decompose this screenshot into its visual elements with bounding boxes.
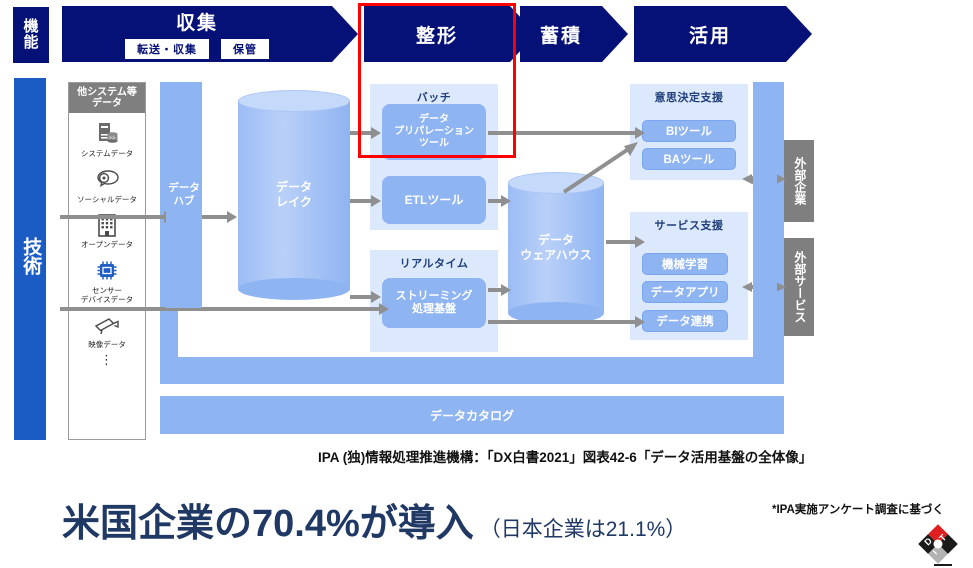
stage-utilize-label: 活用	[689, 21, 731, 48]
data-lake-label: データ レイク	[238, 180, 350, 210]
data-hub-label: データ ハブ	[168, 182, 200, 207]
node-etl-tool[interactable]: ETLツール	[382, 176, 486, 224]
chevron-arrow-icon	[332, 6, 358, 62]
data-sources-header-line1: 他システム等	[77, 87, 137, 99]
source-item-label-line2: デバイスデータ	[81, 296, 133, 305]
group-realtime-title: リアルタイム	[370, 250, 498, 271]
source-more-indicator: ⋮	[69, 356, 145, 364]
platform-right-rail	[753, 82, 777, 357]
source-item-system-data[interactable]: SQL システムデータ	[69, 119, 145, 159]
source-item-label: システムデータ	[81, 150, 133, 159]
arrow-preparation-to-bi	[488, 131, 636, 135]
data-sources-header: 他システム等 データ	[69, 83, 145, 113]
source-item-label: センサー デバイスデータ	[81, 287, 133, 304]
arrow-warehouse-to-service-support	[606, 240, 636, 244]
group-service-support-title: サービス支援	[630, 212, 748, 233]
data-lake-bottom	[238, 278, 350, 300]
data-catalog-label: データカタログ	[430, 407, 514, 424]
node-data-app[interactable]: データアプリ	[642, 281, 728, 303]
arrow-sources-to-hub	[60, 215, 165, 219]
arrow-warehouse-to-ba	[560, 140, 650, 200]
arrow-streaming-to-warehouse	[488, 288, 502, 292]
chevron-arrow-icon	[786, 6, 812, 62]
arrow-etl-to-warehouse	[488, 199, 502, 203]
arrow-hub-to-lake	[200, 215, 228, 219]
source-item-label: ソーシャルデータ	[77, 196, 137, 205]
node-ba-tool[interactable]: BAツール	[642, 148, 736, 170]
stage-store[interactable]: 蓄積	[520, 6, 602, 62]
stage-shape[interactable]: 整形	[364, 6, 510, 62]
technology-axis-text: 技術	[20, 237, 41, 281]
video-camera-icon	[93, 310, 121, 340]
data-warehouse-label: データ ウェアハウス	[508, 233, 604, 263]
arrow-lake-to-etl	[350, 199, 372, 203]
database-server-icon: SQL	[94, 119, 120, 149]
arrow-streaming-to-data-integration	[488, 320, 636, 324]
stage-store-label: 蓄積	[540, 21, 582, 48]
node-data-preparation-tool[interactable]: データ プリパレーション ツール	[382, 104, 486, 160]
stage-collect-chip-transfer[interactable]: 転送・収集	[124, 38, 210, 60]
data-sources-panel: 他システム等 データ SQL システムデータ	[68, 82, 146, 440]
external-company-box[interactable]: 外部企業	[784, 140, 814, 222]
technology-axis-label: 技術	[14, 78, 46, 440]
sensor-chip-icon	[94, 256, 120, 286]
stage-utilize[interactable]: 活用	[634, 6, 786, 62]
headline-sub: （日本企業は21.1%）	[480, 513, 687, 543]
data-sources-header-line2: データ	[92, 98, 122, 110]
headline-main: 米国企業の70.4%が導入	[62, 492, 474, 547]
source-item-sensor-device-data[interactable]: センサー デバイスデータ	[69, 256, 145, 304]
stage-collect-label: 収集	[176, 8, 218, 35]
source-item-label: 映像データ	[88, 341, 126, 350]
stage-shape-label: 整形	[416, 21, 458, 48]
data-lake-top	[238, 90, 350, 112]
node-machine-learning[interactable]: 機械学習	[642, 253, 728, 275]
arrow-lake-to-preparation	[350, 131, 372, 135]
node-bi-tool[interactable]: BIツール	[642, 120, 736, 142]
source-item-label: オープンデータ	[81, 241, 133, 250]
source-item-social-data[interactable]: ソーシャルデータ	[69, 165, 145, 205]
source-item-video-data[interactable]: 映像データ	[69, 310, 145, 350]
function-axis-label: 機 能	[12, 6, 50, 64]
data-catalog-bar[interactable]: データカタログ	[160, 396, 784, 434]
arrow-sources-to-streaming	[60, 307, 380, 311]
social-chat-icon	[93, 165, 121, 195]
data-hub[interactable]: データ ハブ	[166, 82, 202, 308]
arrow-lake-to-streaming	[350, 295, 372, 299]
external-service-box[interactable]: 外部サービス	[784, 238, 814, 336]
data-lake[interactable]: データ レイク	[238, 90, 350, 300]
node-data-integration[interactable]: データ連携	[642, 310, 728, 332]
stage-collect-chip-storage[interactable]: 保管	[220, 38, 270, 60]
group-batch-title: バッチ	[370, 84, 498, 105]
function-axis-char-2: 能	[23, 35, 38, 51]
chevron-arrow-icon	[602, 6, 628, 62]
citation-text: IPA (独)情報処理推進機構：「DX白書2021」図表42-6「データ活用基盤…	[318, 446, 973, 466]
node-streaming-platform[interactable]: ストリーミング 処理基盤	[382, 278, 486, 328]
group-decision-support-title: 意思決定支援	[630, 84, 748, 105]
dit-diamond-logo: D T I	[916, 524, 960, 568]
function-axis-char-1: 機	[23, 19, 38, 35]
svg-text:SQL: SQL	[109, 136, 116, 140]
stage-collect[interactable]: 収集 転送・収集 保管	[62, 6, 332, 62]
footnote-text: *IPA実施アンケート調査に基づく	[772, 501, 944, 517]
headline: 米国企業の70.4%が導入 （日本企業は21.1%）	[62, 492, 686, 547]
